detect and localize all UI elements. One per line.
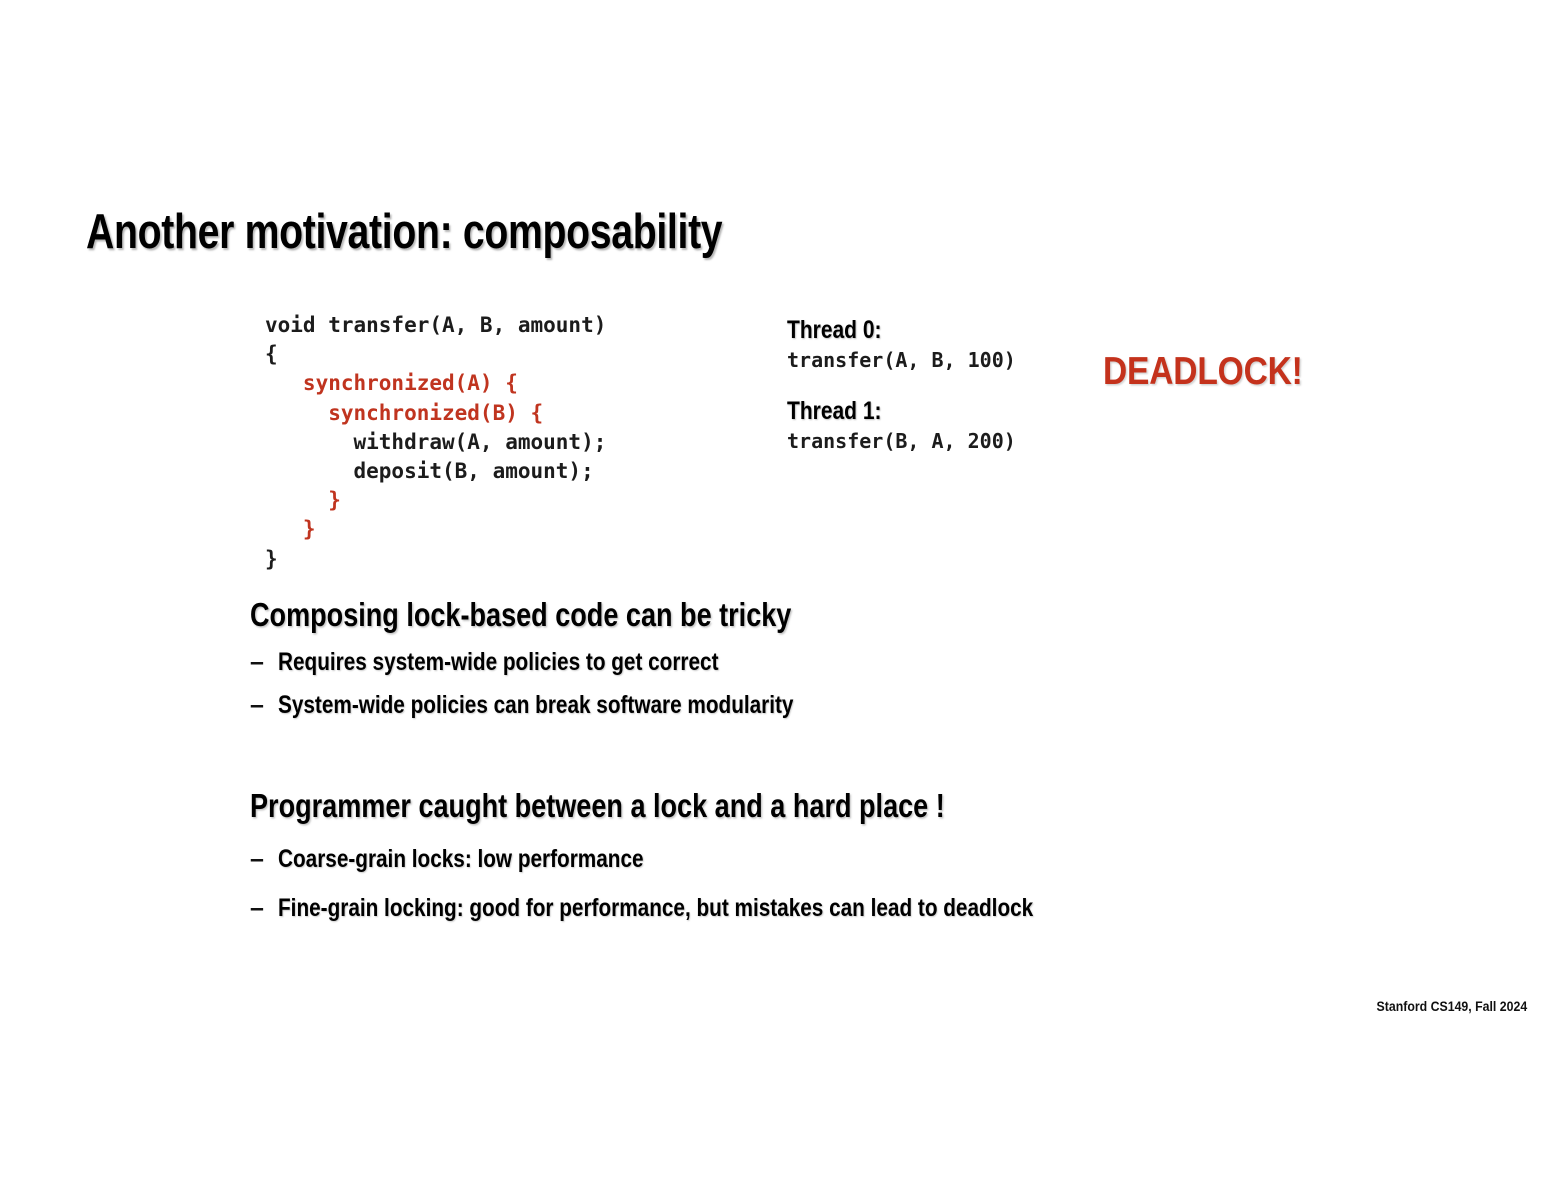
code-line: } xyxy=(265,486,606,515)
code-token-synchronized: } xyxy=(265,517,316,541)
code-token-synchronized: synchronized(A) { xyxy=(265,371,518,395)
code-line: deposit(B, amount); xyxy=(265,457,606,486)
code-token-synchronized: } xyxy=(265,488,341,512)
code-token-plain: void transfer(A, B, amount) xyxy=(265,313,606,337)
thread-item: Thread 1: transfer(B, A, 200) xyxy=(787,397,1016,456)
code-line: } xyxy=(265,545,606,574)
slide-footer: Stanford CS149, Fall 2024 xyxy=(1376,998,1527,1014)
dash-bullet-icon: – xyxy=(250,894,278,923)
section-heading: Programmer caught between a lock and a h… xyxy=(250,788,1019,825)
code-token-synchronized: synchronized(B) { xyxy=(265,401,543,425)
thread-call: transfer(A, B, 100) xyxy=(787,345,1016,375)
dash-bullet-icon: – xyxy=(250,648,278,677)
bullet-item: – System-wide policies can break softwar… xyxy=(250,691,910,720)
bullet-text: Fine-grain locking: good for performance… xyxy=(278,894,1033,923)
code-token-plain: } xyxy=(265,547,278,571)
code-token-plain: deposit(B, amount); xyxy=(265,459,594,483)
code-token-plain: withdraw(A, amount); xyxy=(265,430,606,454)
thread-label: Thread 1: xyxy=(787,397,979,426)
code-line: synchronized(B) { xyxy=(265,399,606,428)
code-line: } xyxy=(265,515,606,544)
slide-canvas: Another motivation: composability void t… xyxy=(0,0,1553,1200)
code-line: { xyxy=(265,340,606,369)
code-block-transfer: void transfer(A, B, amount){ synchronize… xyxy=(265,311,606,574)
bullet-text: System-wide policies can break software … xyxy=(278,691,793,720)
bullet-item: – Fine-grain locking: good for performan… xyxy=(250,894,1188,923)
code-token-plain: { xyxy=(265,342,278,366)
section-composing: Composing lock-based code can be tricky … xyxy=(250,597,910,720)
thread-item: Thread 0: transfer(A, B, 100) xyxy=(787,316,1016,375)
section-heading: Composing lock-based code can be tricky xyxy=(250,597,791,634)
bullet-item: – Requires system-wide policies to get c… xyxy=(250,648,910,677)
dash-bullet-icon: – xyxy=(250,845,278,874)
code-line: void transfer(A, B, amount) xyxy=(265,311,606,340)
deadlock-callout: DEADLOCK! xyxy=(1103,352,1303,391)
code-line: synchronized(A) { xyxy=(265,369,606,398)
section-programmer: Programmer caught between a lock and a h… xyxy=(250,788,1188,923)
bullet-text: Requires system-wide policies to get cor… xyxy=(278,648,719,677)
bullet-text: Coarse-grain locks: low performance xyxy=(278,845,644,874)
thread-call: transfer(B, A, 200) xyxy=(787,426,1016,456)
thread-list: Thread 0: transfer(A, B, 100) Thread 1: … xyxy=(787,316,1016,478)
page-title: Another motivation: composability xyxy=(86,207,722,258)
code-line: withdraw(A, amount); xyxy=(265,428,606,457)
bullet-item: – Coarse-grain locks: low performance xyxy=(250,845,1188,874)
dash-bullet-icon: – xyxy=(250,691,278,720)
thread-label: Thread 0: xyxy=(787,316,979,345)
